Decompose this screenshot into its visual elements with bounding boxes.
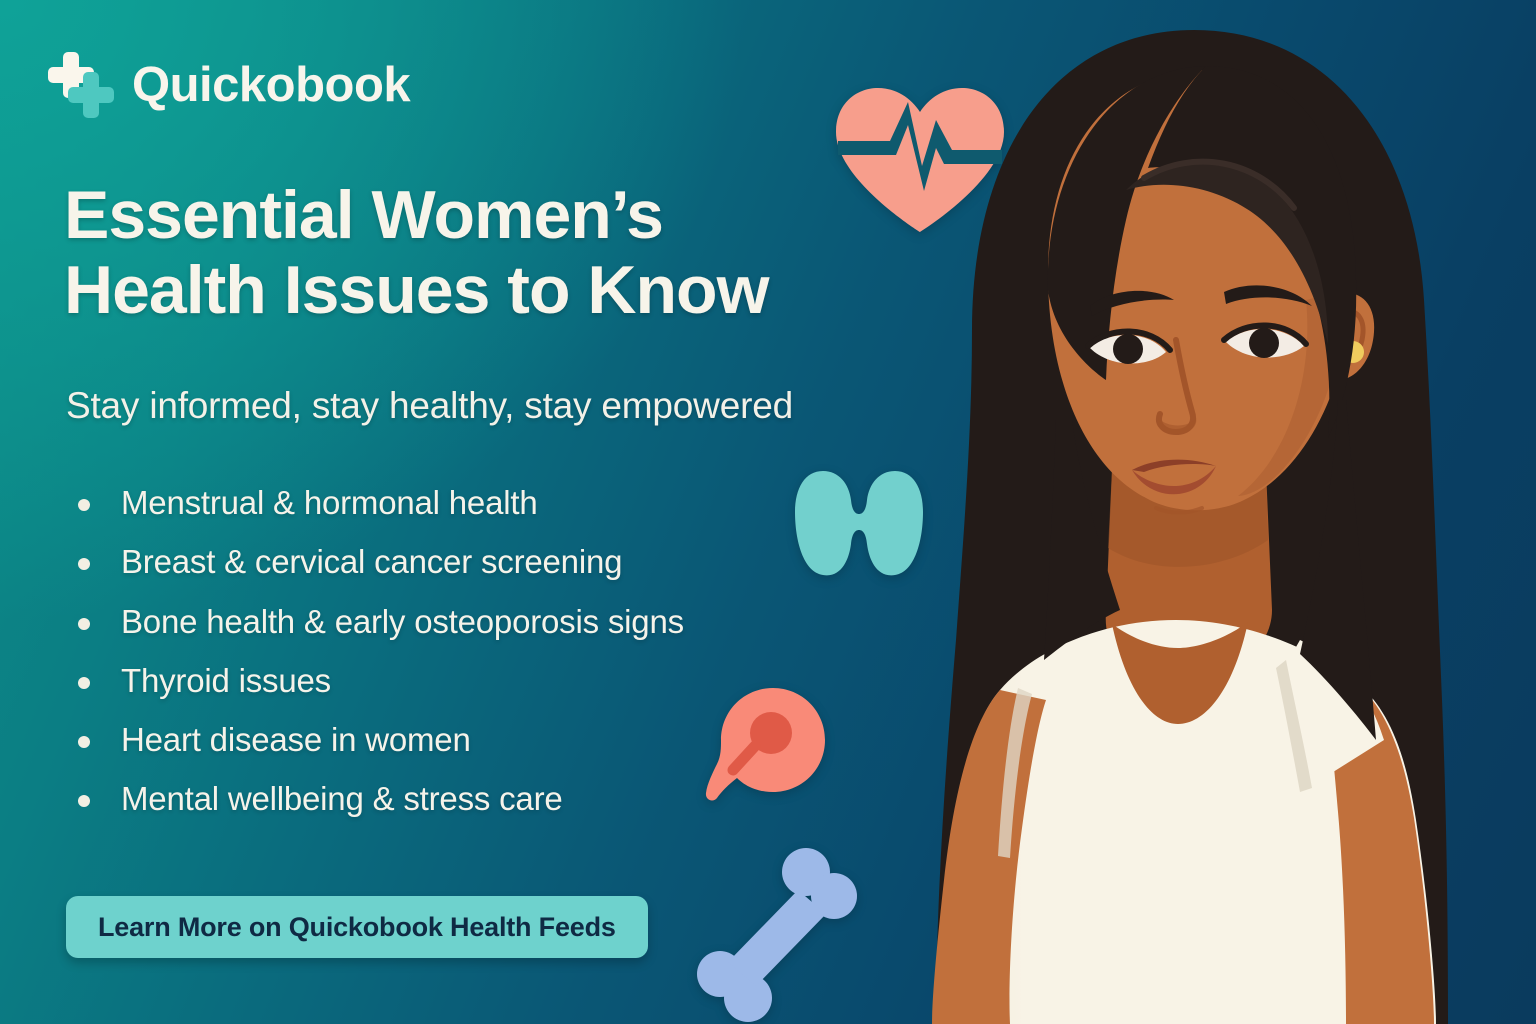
bullet-dot-icon (78, 795, 90, 807)
poster-canvas: Quickobook Essential Women’s Health Issu… (0, 0, 1536, 1024)
double-cross-medical-icon (48, 52, 114, 118)
bullet-dot-icon (78, 677, 90, 689)
headline-line-2: Health Issues to Know (64, 253, 964, 328)
list-item: Bone health & early osteoporosis signs (68, 602, 888, 642)
page-title: Essential Women’s Health Issues to Know (64, 178, 964, 328)
list-item-label: Mental wellbeing & stress care (121, 780, 563, 817)
list-item-label: Bone health & early osteoporosis signs (121, 603, 684, 640)
woman-portrait-illustration (876, 0, 1536, 1024)
list-item-label: Heart disease in women (121, 721, 471, 758)
list-item: Breast & cervical cancer screening (68, 542, 888, 582)
bullet-dot-icon (78, 618, 90, 630)
list-item-label: Menstrual & hormonal health (121, 484, 538, 521)
bone-icon (694, 846, 860, 1024)
breast-exam-icon (703, 686, 827, 804)
page-subtitle: Stay informed, stay healthy, stay empowe… (66, 385, 793, 427)
brand-logo[interactable]: Quickobook (48, 52, 410, 118)
headline-line-1: Essential Women’s (64, 178, 964, 253)
list-item-label: Breast & cervical cancer screening (121, 543, 622, 580)
list-item: Menstrual & hormonal health (68, 483, 888, 523)
bullet-dot-icon (78, 499, 90, 511)
brand-name: Quickobook (132, 61, 410, 110)
learn-more-button[interactable]: Learn More on Quickobook Health Feeds (66, 896, 648, 958)
bullet-dot-icon (78, 736, 90, 748)
bullet-dot-icon (78, 558, 90, 570)
list-item-label: Thyroid issues (121, 662, 331, 699)
